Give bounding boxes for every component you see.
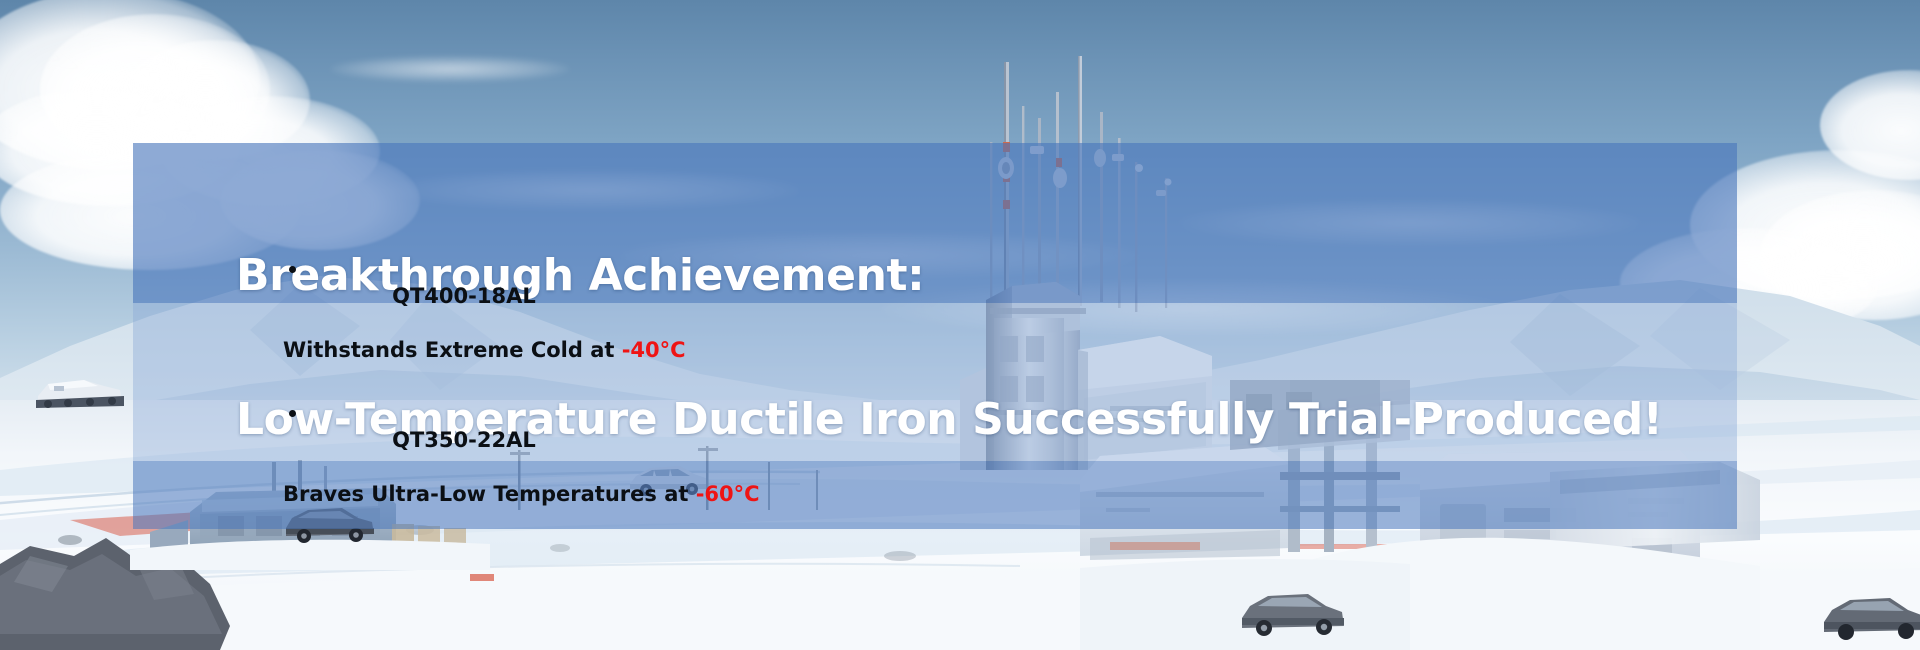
product-bullet-list: QT400-18AL Withstands Extreme Cold at -4… (283, 257, 760, 507)
tracked-vehicle (32, 372, 128, 412)
bullet-group-qt400: QT400-18AL Withstands Extreme Cold at -4… (283, 257, 760, 363)
bullet-description-text: Withstands Extreme Cold at (283, 338, 622, 362)
content-overlay-panel: Breakthrough Achievement: Low-Temperatur… (133, 143, 1737, 529)
bullet-temperature-value: -60°C (696, 482, 760, 506)
bullet-group-qt350: QT350-22AL Braves Ultra-Low Temperatures… (283, 401, 760, 507)
bullet-dot-icon (289, 266, 296, 273)
bullet-dot-icon (289, 410, 296, 417)
bullet-temperature-value: -40°C (622, 338, 686, 362)
bullet-grade-label: QT350-22AL (392, 428, 536, 452)
bullet-grade-row: QT350-22AL (283, 401, 760, 479)
suv-far-right (1820, 590, 1920, 644)
bullet-grade-row: QT400-18AL (283, 257, 760, 335)
bullet-grade-label: QT400-18AL (392, 284, 536, 308)
bullet-description-text: Braves Ultra-Low Temperatures at (283, 482, 696, 506)
bullet-description-row: Braves Ultra-Low Temperatures at -60°C (283, 481, 760, 507)
suv-dark-right (1238, 586, 1348, 638)
bullet-description-row: Withstands Extreme Cold at -40°C (283, 337, 760, 363)
banner-stage: Breakthrough Achievement: Low-Temperatur… (0, 0, 1920, 650)
cloud-wisp-a (330, 56, 570, 82)
